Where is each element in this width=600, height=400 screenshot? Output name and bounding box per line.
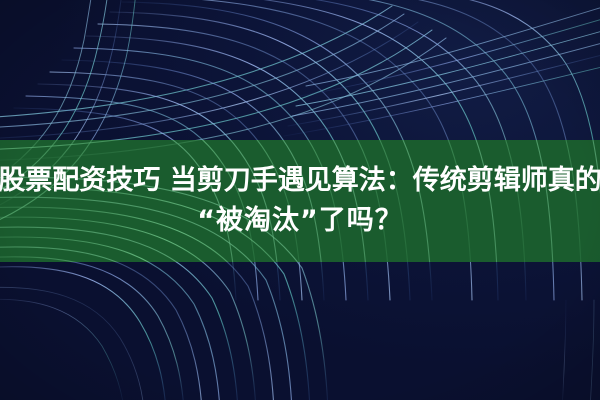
title-line-2: “被淘汰”了吗？: [197, 201, 403, 241]
title-block: 股票配资技巧 当剪刀手遇见算法：传统剪辑师真的 “被淘汰”了吗？: [0, 140, 600, 262]
title-line-1: 股票配资技巧 当剪刀手遇见算法：传统剪辑师真的: [0, 161, 600, 201]
banner-image: 股票配资技巧 当剪刀手遇见算法：传统剪辑师真的 “被淘汰”了吗？: [0, 0, 600, 400]
